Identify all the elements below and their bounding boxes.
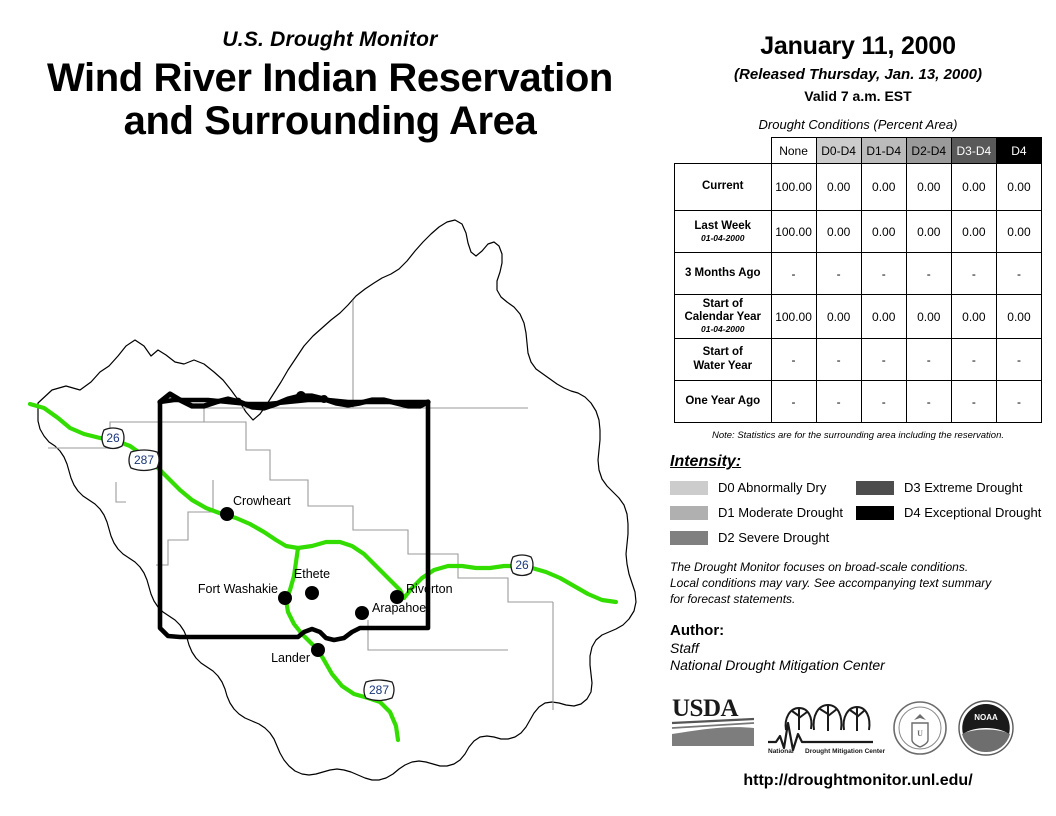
table-cell: 0.00 <box>906 295 951 339</box>
table-cell: 0.00 <box>861 164 906 211</box>
city-dot-ethete <box>305 586 319 600</box>
author-heading: Author: <box>670 622 1056 639</box>
stats-table-wrap: NoneD0-D4D1-D4D2-D4D3-D4D4 Current100.00… <box>674 137 1042 423</box>
table-row: Start ofWater Year------ <box>675 339 1042 381</box>
table-row: 3 Months Ago------ <box>675 253 1042 295</box>
highway-shield-26-2: 26 <box>511 555 533 576</box>
table-cell: - <box>996 381 1041 423</box>
legend-swatch-d4 <box>856 506 894 520</box>
row-label: One Year Ago <box>675 381 772 423</box>
city-label-lander: Lander <box>271 651 310 665</box>
author-block: Author: Staff National Drought Mitigatio… <box>660 622 1056 673</box>
table-note: Note: Statistics are for the surrounding… <box>660 430 1056 441</box>
table-cell: - <box>771 253 816 295</box>
city-label-arapahoe: Arapahoe <box>372 601 426 615</box>
usda-logo: USDA <box>672 695 754 746</box>
drought-conditions-table: NoneD0-D4D1-D4D2-D4D3-D4D4 Current100.00… <box>674 137 1042 423</box>
map-panel: U.S. Drought Monitor Wind River Indian R… <box>0 0 660 816</box>
row-label: Start ofCalendar Year01-04-2000 <box>675 295 772 339</box>
table-cell: 0.00 <box>861 295 906 339</box>
table-cell: - <box>906 253 951 295</box>
map-graphic[interactable]: CrowheartFort WashakieEtheteRivertonArap… <box>8 150 658 790</box>
table-header-d4: D4 <box>996 138 1041 164</box>
table-cell: 100.00 <box>771 164 816 211</box>
row-label-date: 01-04-2000 <box>677 234 769 244</box>
table-header-d2-d4: D2-D4 <box>906 138 951 164</box>
noaa-logo: NOAA <box>959 701 1013 755</box>
table-cell: - <box>996 253 1041 295</box>
legend-swatch-d2 <box>670 531 708 545</box>
highway-shield-287-1: 287 <box>129 450 159 471</box>
legend-label-d1: D1 Moderate Drought <box>718 505 843 520</box>
shield-number: 26 <box>106 431 120 445</box>
highway-shield-287-3: 287 <box>364 680 394 701</box>
date-block: January 11, 2000 (Released Thursday, Jan… <box>660 0 1056 104</box>
intensity-legend: Intensity: D0 Abnormally DryD1 Moderate … <box>660 453 1056 550</box>
svg-text:U: U <box>917 729 923 738</box>
table-row: Last Week01-04-2000100.000.000.000.000.0… <box>675 211 1042 253</box>
table-cell: - <box>771 339 816 381</box>
table-cell: 0.00 <box>996 211 1041 253</box>
city-dot-crowheart <box>220 507 234 521</box>
author-name: Staff <box>670 640 1056 656</box>
table-cell: 0.00 <box>861 211 906 253</box>
drought-monitor-page: U.S. Drought Monitor Wind River Indian R… <box>0 0 1056 816</box>
issue-date: January 11, 2000 <box>660 32 1056 61</box>
unl-seal: U <box>894 702 946 754</box>
map-title-block: U.S. Drought Monitor Wind River Indian R… <box>0 28 660 143</box>
legend-label-d4: D4 Exceptional Drought <box>904 505 1041 520</box>
table-cell: - <box>861 253 906 295</box>
table-corner-cell <box>675 138 772 164</box>
legend-swatch-d3 <box>856 481 894 495</box>
legend-grid: D0 Abnormally DryD1 Moderate DroughtD2 S… <box>670 475 1056 550</box>
table-cell: - <box>816 381 861 423</box>
valid-time: Valid 7 a.m. EST <box>660 88 1056 104</box>
table-row: Start ofCalendar Year01-04-2000100.000.0… <box>675 295 1042 339</box>
table-header-d1-d4: D1-D4 <box>861 138 906 164</box>
ndmc-logo: National Drought Mitigation Center <box>768 705 886 755</box>
legend-label-d2: D2 Severe Drought <box>718 530 829 545</box>
table-caption: Drought Conditions (Percent Area) <box>660 117 1056 132</box>
author-organization: National Drought Mitigation Center <box>670 657 1056 673</box>
table-cell: 0.00 <box>951 164 996 211</box>
legend-column-left: D0 Abnormally DryD1 Moderate DroughtD2 S… <box>670 475 856 550</box>
table-cell: 0.00 <box>816 295 861 339</box>
shield-number: 26 <box>515 558 529 572</box>
city-label-riverton: Riverton <box>406 582 453 596</box>
surrounding-area-outline <box>38 220 636 780</box>
disclaimer: The Drought Monitor focuses on broad-sca… <box>660 560 1056 607</box>
row-label: Current <box>675 164 772 211</box>
website-url[interactable]: http://droughtmonitor.unl.edu/ <box>660 772 1056 790</box>
table-header-none: None <box>771 138 816 164</box>
table-body: Current100.000.000.000.000.000.00Last We… <box>675 164 1042 423</box>
legend-column-right: D3 Extreme DroughtD4 Exceptional Drought <box>856 475 1041 550</box>
legend-item-d1: D1 Moderate Drought <box>670 500 856 525</box>
released-date: (Released Thursday, Jan. 13, 2000) <box>660 66 1056 83</box>
table-row: One Year Ago------ <box>675 381 1042 423</box>
table-cell: - <box>816 253 861 295</box>
table-cell: 0.00 <box>816 211 861 253</box>
table-cell: 0.00 <box>906 164 951 211</box>
city-label-ethete: Ethete <box>294 567 330 581</box>
table-cell: 0.00 <box>951 211 996 253</box>
table-cell: - <box>996 339 1041 381</box>
table-cell: - <box>906 339 951 381</box>
page-title: Wind River Indian Reservation and Surrou… <box>0 57 660 143</box>
city-dot-fort-washakie <box>278 591 292 605</box>
disclaimer-line2: Local conditions may vary. See accompany… <box>670 576 1056 592</box>
city-dot-arapahoe <box>355 606 369 620</box>
row-label: Start ofWater Year <box>675 339 772 381</box>
highway-shield-26-0: 26 <box>102 428 124 449</box>
table-cell: 100.00 <box>771 295 816 339</box>
legend-item-d2: D2 Severe Drought <box>670 525 856 550</box>
product-name: U.S. Drought Monitor <box>0 28 660 52</box>
page-title-line1: Wind River Indian Reservation <box>47 56 613 100</box>
info-panel: January 11, 2000 (Released Thursday, Jan… <box>660 0 1056 816</box>
table-header-d3-d4: D3-D4 <box>951 138 996 164</box>
table-cell: 0.00 <box>996 295 1041 339</box>
city-dot-lander <box>311 643 325 657</box>
table-header-d0-d4: D0-D4 <box>816 138 861 164</box>
legend-item-d4: D4 Exceptional Drought <box>856 500 1041 525</box>
svg-text:NOAA: NOAA <box>974 713 998 722</box>
row-label: Last Week01-04-2000 <box>675 211 772 253</box>
table-cell: - <box>951 253 996 295</box>
table-header-row: NoneD0-D4D1-D4D2-D4D3-D4D4 <box>675 138 1042 164</box>
disclaimer-line3: for forecast statements. <box>670 592 1056 608</box>
logo-row: USDA National <box>668 690 1048 762</box>
table-cell: - <box>861 381 906 423</box>
page-title-line2: and Surrounding Area <box>0 100 660 143</box>
row-label-date: 01-04-2000 <box>677 325 769 335</box>
row-label: 3 Months Ago <box>675 253 772 295</box>
city-label-fort-washakie: Fort Washakie <box>198 582 278 596</box>
city-label-crowheart: Crowheart <box>233 494 291 508</box>
table-cell: - <box>951 339 996 381</box>
disclaimer-line1: The Drought Monitor focuses on broad-sca… <box>670 560 1056 576</box>
legend-label-d0: D0 Abnormally Dry <box>718 480 826 495</box>
intensity-title: Intensity: <box>670 453 1056 471</box>
legend-item-d3: D3 Extreme Drought <box>856 475 1041 500</box>
table-cell: 0.00 <box>906 211 951 253</box>
svg-text:USDA: USDA <box>672 695 739 722</box>
legend-item-d0: D0 Abnormally Dry <box>670 475 856 500</box>
legend-swatch-d0 <box>670 481 708 495</box>
table-cell: - <box>816 339 861 381</box>
shield-number: 287 <box>369 683 389 697</box>
table-cell: 100.00 <box>771 211 816 253</box>
table-cell: 0.00 <box>951 295 996 339</box>
table-cell: 0.00 <box>996 164 1041 211</box>
shield-number: 287 <box>134 453 154 467</box>
table-cell: 0.00 <box>816 164 861 211</box>
table-cell: - <box>951 381 996 423</box>
table-row: Current100.000.000.000.000.000.00 <box>675 164 1042 211</box>
table-cell: - <box>906 381 951 423</box>
legend-label-d3: D3 Extreme Drought <box>904 480 1023 495</box>
table-cell: - <box>771 381 816 423</box>
svg-text:National: National <box>768 748 794 755</box>
svg-text:Drought Mitigation Center: Drought Mitigation Center <box>805 748 886 755</box>
legend-swatch-d1 <box>670 506 708 520</box>
table-cell: - <box>861 339 906 381</box>
